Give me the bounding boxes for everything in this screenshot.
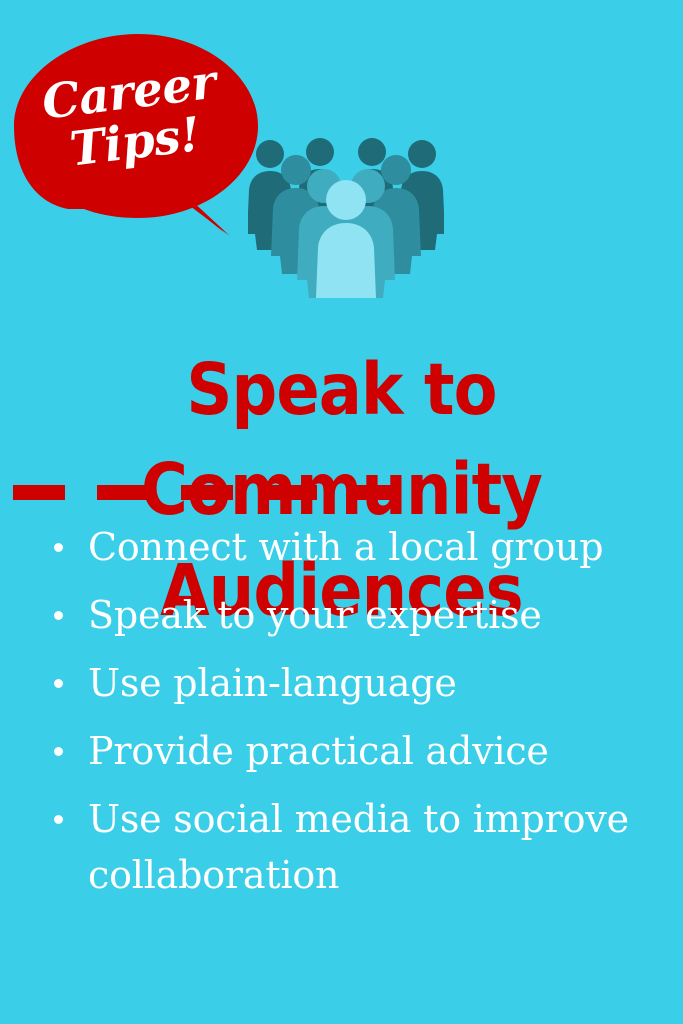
- poster-canvas: Career Tips!: [0, 0, 683, 1024]
- bullet-dot-icon: [54, 543, 63, 552]
- group-of-people-icon: [248, 138, 444, 298]
- list-item: Connect with a local group: [46, 519, 656, 575]
- people-figures-svg: [248, 138, 444, 298]
- bullet-dot-icon: [54, 815, 63, 824]
- bullet-dot-icon: [54, 679, 63, 688]
- career-tips-badge: Career Tips!: [8, 28, 264, 238]
- list-item: Use social media to improve collaboratio…: [46, 791, 656, 903]
- divider-dash: [97, 485, 149, 500]
- list-item-label: Use plain-language: [88, 655, 656, 711]
- list-item: Provide practical advice: [46, 723, 656, 779]
- list-item-label: Speak to your expertise: [88, 587, 656, 643]
- bullet-dot-icon: [54, 611, 63, 620]
- list-item: Use plain-language: [46, 655, 656, 711]
- bullet-dot-icon: [54, 747, 63, 756]
- dashed-divider: [13, 485, 413, 500]
- divider-dash: [181, 485, 233, 500]
- list-item-label: Provide practical advice: [88, 723, 656, 779]
- list-item-label: Use social media to improve collaboratio…: [88, 791, 656, 903]
- tips-list: Connect with a local group Speak to your…: [46, 519, 656, 915]
- divider-dash: [349, 485, 401, 500]
- divider-dash: [13, 485, 65, 500]
- list-item-label: Connect with a local group: [88, 519, 656, 575]
- list-item: Speak to your expertise: [46, 587, 656, 643]
- speech-bubble-shape: [8, 28, 264, 238]
- divider-dash: [265, 485, 317, 500]
